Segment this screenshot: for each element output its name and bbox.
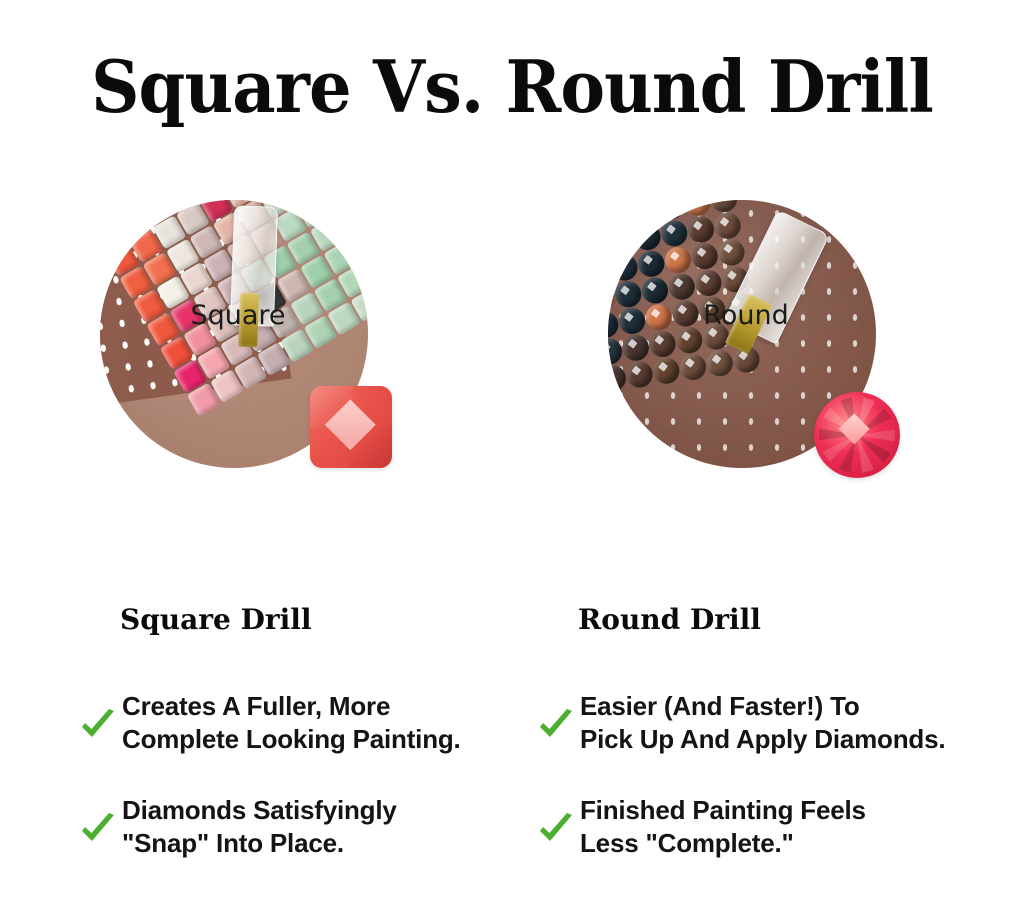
column-round-drill: Round Drill Easier (And Faster!) To Pick… [536,604,956,898]
list-item: Easier (And Faster!) To Pick Up And Appl… [536,690,956,756]
caption-square: Square [62,300,414,331]
square-gem [310,386,392,468]
list-item-text: Diamonds Satisfyingly "Snap" Into Place. [122,794,397,860]
list-item: Creates A Fuller, More Complete Looking … [78,690,498,756]
list-item-text: Finished Painting Feels Less "Complete." [580,794,866,860]
caption-round: Round [570,300,922,331]
page-title: Square Vs. Round Drill [36,48,988,126]
column-heading-square-drill: Square Drill [120,604,498,636]
panel-square [82,196,434,496]
column-heading-round-drill: Round Drill [578,604,956,636]
list-item: Diamonds Satisfyingly "Snap" Into Place. [78,794,498,860]
list-item-text: Easier (And Faster!) To Pick Up And Appl… [580,690,945,756]
check-icon [78,809,118,849]
list-item-text: Creates A Fuller, More Complete Looking … [122,690,461,756]
round-gem [814,392,900,478]
check-icon [536,705,576,745]
panel-round [590,196,942,496]
list-item: Finished Painting Feels Less "Complete." [536,794,956,860]
check-icon [536,809,576,849]
comparison-panels [0,196,1024,496]
check-icon [78,705,118,745]
column-square-drill: Square Drill Creates A Fuller, More Comp… [78,604,498,898]
